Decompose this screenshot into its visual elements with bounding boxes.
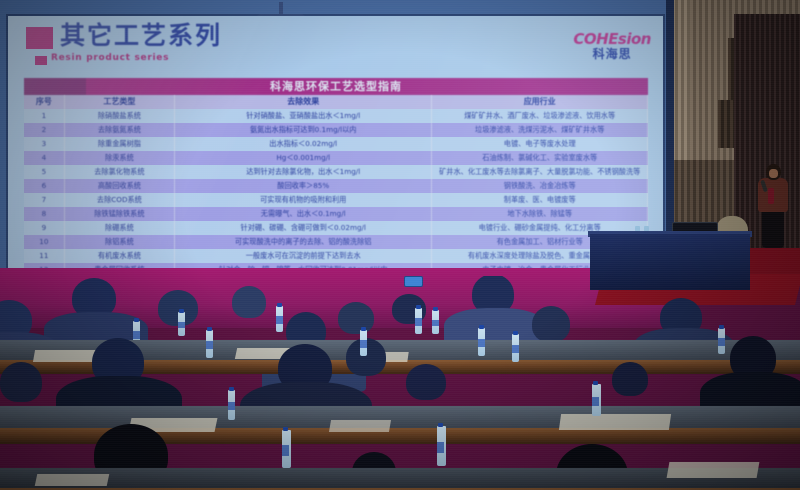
row-cell-no: 8 bbox=[24, 207, 65, 221]
bottle-label bbox=[432, 320, 439, 327]
table-title-left-block bbox=[24, 78, 86, 95]
row-cell-no: 11 bbox=[24, 249, 65, 263]
audience-head bbox=[232, 286, 266, 318]
row-cell-industry: 钢铁酸洗、冶金冶炼等 bbox=[432, 179, 648, 193]
row-cell-effect: 一般废水可在沉淀的前提下达到去水 bbox=[175, 249, 432, 263]
bottle-cap bbox=[134, 318, 139, 322]
audience-head bbox=[406, 364, 446, 400]
water-bottle bbox=[282, 430, 291, 468]
table-row: 11有机废水系统一般废水可在沉淀的前提下达到去水有机废水深度处理除盐及脱色、重金… bbox=[24, 249, 648, 263]
row-cell-industry: 煤矿矿井水、酒厂废水、垃圾渗滤液、饮用水等 bbox=[432, 109, 648, 123]
bottle-label bbox=[437, 442, 444, 453]
bottle-cap bbox=[438, 423, 443, 427]
audience-paper bbox=[667, 462, 760, 478]
audience-head bbox=[532, 306, 570, 342]
bottle-label bbox=[360, 340, 367, 347]
row-cell-industry: 电镀、电子等废水处理 bbox=[432, 137, 648, 151]
bottle-label bbox=[478, 339, 485, 347]
table-row: 9除硼系统针对硼、碳硼、含硼可做到＜0.02mg/l电镀行业、硼砂金属提纯、化工… bbox=[24, 221, 648, 235]
water-bottle bbox=[415, 308, 422, 334]
audience-paper bbox=[559, 414, 671, 430]
row-cell-process: 除重金属树脂 bbox=[65, 137, 175, 151]
logo-english-text: COHEsion bbox=[573, 32, 651, 47]
row-cell-effect: 针对硝酸盐、亚硝酸盐出水＜1mg/l bbox=[175, 109, 432, 123]
table-row: 8除铁锰除铁系统无需曝气、出水＜0.1mg/l地下水除铁、除锰等 bbox=[24, 207, 648, 221]
bottle-label bbox=[512, 345, 519, 353]
water-bottle bbox=[276, 306, 283, 332]
audience-paper bbox=[35, 474, 110, 486]
row-cell-process: 高酸回收系统 bbox=[65, 179, 175, 193]
audience-paper bbox=[329, 420, 391, 432]
column-header-no: 序号 bbox=[24, 95, 65, 109]
subtitle-accent-square bbox=[35, 56, 47, 65]
row-cell-industry: 垃圾渗滤液、洗煤污泥水、煤矿矿井水等 bbox=[432, 123, 648, 137]
column-header-effect: 去除效果 bbox=[175, 95, 432, 109]
row-cell-no: 3 bbox=[24, 137, 65, 151]
row-cell-process: 除铁锰除铁系统 bbox=[65, 207, 175, 221]
row-cell-effect: 可实现有机物的吸附和利用 bbox=[175, 193, 432, 207]
column-header-industry: 应用行业 bbox=[432, 95, 648, 109]
table-row: 4除汞系统Hg＜0.001mg/l石油炼制、氯碱化工、实验室废水等 bbox=[24, 151, 648, 165]
row-cell-effect: Hg＜0.001mg/l bbox=[175, 151, 432, 165]
table-row: 2去除氨氮系统氨氮出水指标可达到0.1mg/l以内垃圾渗滤液、洗煤污泥水、煤矿矿… bbox=[24, 123, 648, 137]
audience-seating-area bbox=[0, 276, 800, 490]
row-cell-no: 1 bbox=[24, 109, 65, 123]
bottle-cap bbox=[433, 307, 438, 311]
bottle-cap bbox=[513, 331, 518, 335]
row-cell-no: 9 bbox=[24, 221, 65, 235]
process-selection-table: 科海思环保工艺选型指南 序号 工艺类型 去除效果 应用行业 1除硝酸盐系统针对硝… bbox=[24, 78, 648, 277]
row-cell-effect: 氨氮出水指标可达到0.1mg/l以内 bbox=[175, 123, 432, 137]
presentation-scene-photo: 其它工艺系列 Resin product series COHEsion 科海思… bbox=[0, 0, 800, 490]
bottle-cap bbox=[229, 387, 234, 391]
water-bottle bbox=[478, 328, 485, 356]
table-row: 3除重金属树脂出水指标＜0.02mg/l电镀、电子等废水处理 bbox=[24, 137, 648, 151]
water-bottle bbox=[178, 312, 185, 336]
bottle-label bbox=[206, 341, 213, 349]
water-bottle bbox=[592, 384, 601, 416]
projection-screen: 其它工艺系列 Resin product series COHEsion 科海思… bbox=[8, 16, 663, 268]
slide-header: 其它工艺系列 Resin product series COHEsion 科海思 bbox=[8, 16, 663, 74]
column-header-process: 工艺类型 bbox=[65, 95, 175, 109]
water-bottle bbox=[437, 426, 446, 466]
bottle-cap bbox=[479, 325, 484, 329]
slide-title: 其它工艺系列 bbox=[60, 20, 222, 52]
row-cell-no: 7 bbox=[24, 193, 65, 207]
bottle-label bbox=[133, 331, 140, 338]
row-cell-effect: 酸回收率＞85% bbox=[175, 179, 432, 193]
table-row: 10除铝系统可实现酸洗中的离子的去除、铝的酸洗除铝有色金属加工、铝材行业等 bbox=[24, 235, 648, 249]
row-cell-process: 除硝酸盐系统 bbox=[65, 109, 175, 123]
bottle-cap bbox=[416, 305, 421, 309]
bottle-label bbox=[276, 316, 283, 323]
bottle-cap bbox=[361, 327, 366, 331]
bottle-label bbox=[178, 322, 185, 329]
water-bottle bbox=[512, 334, 519, 362]
water-bottle bbox=[206, 330, 213, 358]
table-body: 1除硝酸盐系统针对硝酸盐、亚硝酸盐出水＜1mg/l煤矿矿井水、酒厂废水、垃圾渗滤… bbox=[24, 109, 648, 277]
row-cell-no: 10 bbox=[24, 235, 65, 249]
row-cell-process: 去除COD系统 bbox=[65, 193, 175, 207]
row-cell-effect: 针对硼、碳硼、含硼可做到＜0.02mg/l bbox=[175, 221, 432, 235]
row-cell-industry: 地下水除铁、除锰等 bbox=[432, 207, 648, 221]
row-cell-no: 2 bbox=[24, 123, 65, 137]
row-cell-industry: 石油炼制、氯碱化工、实验室废水等 bbox=[432, 151, 648, 165]
row-cell-effect: 达到针对去除氯化物，出水＜1mg/l bbox=[175, 165, 432, 179]
phone-camera bbox=[404, 276, 423, 287]
row-cell-process: 有机废水系统 bbox=[65, 249, 175, 263]
row-cell-industry: 矿井水、化工废水等去除氯离子、大量脱氯功能、不锈钢酸洗等 bbox=[432, 165, 648, 179]
logo-chinese-text: 科海思 bbox=[573, 47, 651, 61]
table-row: 5去除氯化物系统达到针对去除氯化物，出水＜1mg/l矿井水、化工废水等去除氯离子… bbox=[24, 165, 648, 179]
row-cell-no: 4 bbox=[24, 151, 65, 165]
row-cell-effect: 可实现酸洗中的离子的去除、铝的酸洗除铝 bbox=[175, 235, 432, 249]
row-cell-effect: 出水指标＜0.02mg/l bbox=[175, 137, 432, 151]
bottle-label bbox=[282, 445, 289, 456]
water-bottle bbox=[432, 310, 439, 334]
water-bottle bbox=[360, 330, 367, 356]
bottle-cap bbox=[593, 381, 598, 385]
row-cell-industry: 制革废、医、电镀废等 bbox=[432, 193, 648, 207]
bottle-label bbox=[415, 318, 422, 325]
bottle-cap bbox=[283, 427, 288, 431]
bottle-cap bbox=[719, 325, 724, 329]
table-row: 7去除COD系统可实现有机物的吸附和利用制革废、医、电镀废等 bbox=[24, 193, 648, 207]
title-accent-square bbox=[26, 27, 53, 49]
bottle-label bbox=[592, 397, 599, 406]
table-row: 6高酸回收系统酸回收率＞85%钢铁酸洗、冶金冶炼等 bbox=[24, 179, 648, 193]
audience-head bbox=[338, 302, 374, 334]
table-row: 1除硝酸盐系统针对硝酸盐、亚硝酸盐出水＜1mg/l煤矿矿井水、酒厂废水、垃圾渗滤… bbox=[24, 109, 648, 123]
table-title-bar: 科海思环保工艺选型指南 bbox=[24, 78, 648, 95]
presenter-tie bbox=[768, 188, 774, 204]
bottle-label bbox=[718, 338, 725, 345]
row-cell-no: 5 bbox=[24, 165, 65, 179]
bottle-cap bbox=[179, 309, 184, 313]
table-header-row: 序号 工艺类型 去除效果 应用行业 bbox=[24, 95, 648, 109]
row-cell-process: 除汞系统 bbox=[65, 151, 175, 165]
company-logo: COHEsion 科海思 bbox=[573, 32, 651, 61]
audience-head bbox=[0, 362, 42, 402]
bottle-label bbox=[228, 402, 235, 410]
row-cell-process: 去除氯化物系统 bbox=[65, 165, 175, 179]
row-cell-process: 除硼系统 bbox=[65, 221, 175, 235]
presenter-face bbox=[769, 169, 778, 178]
bottle-cap bbox=[207, 327, 212, 331]
bottle-cap bbox=[277, 303, 282, 307]
water-bottle bbox=[228, 390, 235, 420]
row-cell-process: 除铝系统 bbox=[65, 235, 175, 249]
row-cell-process: 去除氨氮系统 bbox=[65, 123, 175, 137]
audience-head bbox=[612, 362, 648, 396]
slide-subtitle: Resin product series bbox=[51, 53, 169, 63]
water-bottle bbox=[718, 328, 725, 354]
table-title-text: 科海思环保工艺选型指南 bbox=[270, 80, 402, 93]
row-cell-no: 6 bbox=[24, 179, 65, 193]
row-cell-effect: 无需曝气、出水＜0.1mg/l bbox=[175, 207, 432, 221]
